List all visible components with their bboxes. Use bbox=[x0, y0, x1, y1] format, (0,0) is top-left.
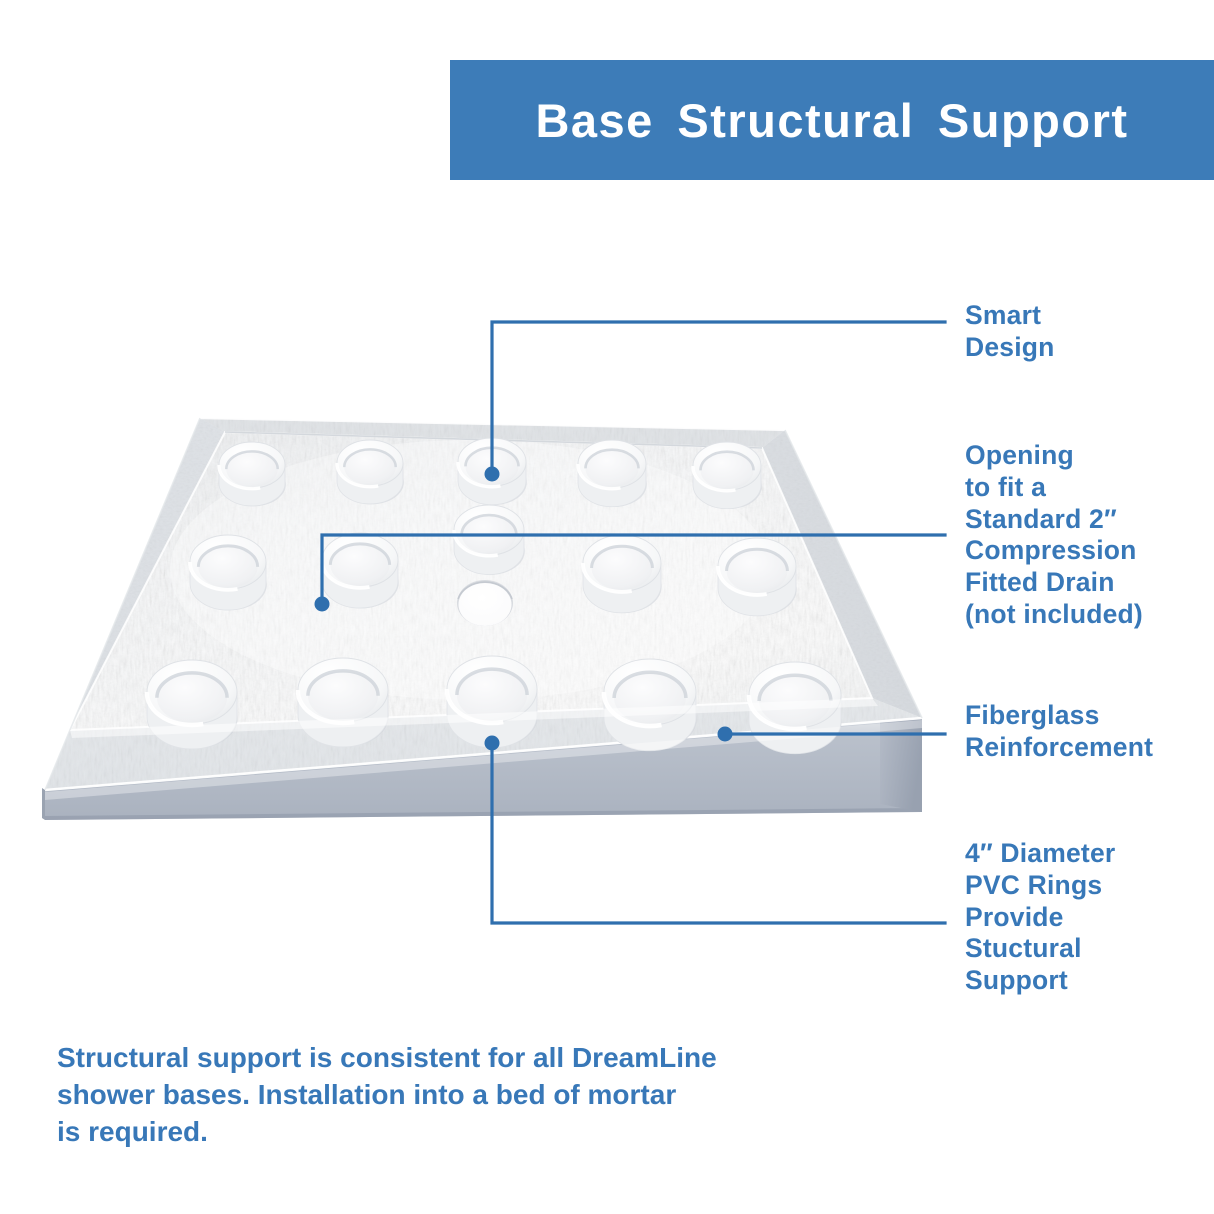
callout-pvc-rings: 4″ Diameter PVC Rings Provide Stuctural … bbox=[965, 838, 1214, 997]
pvc-ring bbox=[298, 658, 389, 747]
pvc-ring bbox=[458, 438, 527, 505]
pvc-ring bbox=[147, 660, 238, 749]
pvc-ring bbox=[322, 533, 399, 608]
pvc-ring bbox=[583, 535, 662, 613]
pvc-ring bbox=[219, 442, 286, 506]
header-banner: Base Structural Support bbox=[450, 60, 1214, 180]
drain-opening bbox=[457, 580, 513, 626]
callout-smart-design: Smart Design bbox=[965, 300, 1214, 364]
shower-base-graphic bbox=[0, 380, 960, 850]
pvc-ring bbox=[447, 656, 538, 748]
pvc-ring bbox=[337, 440, 404, 504]
infographic-page: Base Structural Support bbox=[0, 0, 1214, 1214]
pvc-ring bbox=[718, 538, 797, 616]
callout-fiberglass-reinforcement: Fiberglass Reinforcement bbox=[965, 700, 1214, 764]
pvc-ring bbox=[693, 442, 762, 509]
pvc-ring bbox=[578, 440, 647, 507]
pvc-ring bbox=[454, 505, 525, 575]
page-title: Base Structural Support bbox=[535, 97, 1128, 144]
product-illustration bbox=[0, 380, 960, 850]
footer-note: Structural support is consistent for all… bbox=[57, 1040, 817, 1151]
base-side-left-cap bbox=[42, 788, 45, 820]
pvc-ring bbox=[604, 659, 697, 751]
pvc-ring bbox=[190, 535, 267, 610]
callout-drain-opening: Opening to fit a Standard 2″ Compression… bbox=[965, 440, 1214, 631]
